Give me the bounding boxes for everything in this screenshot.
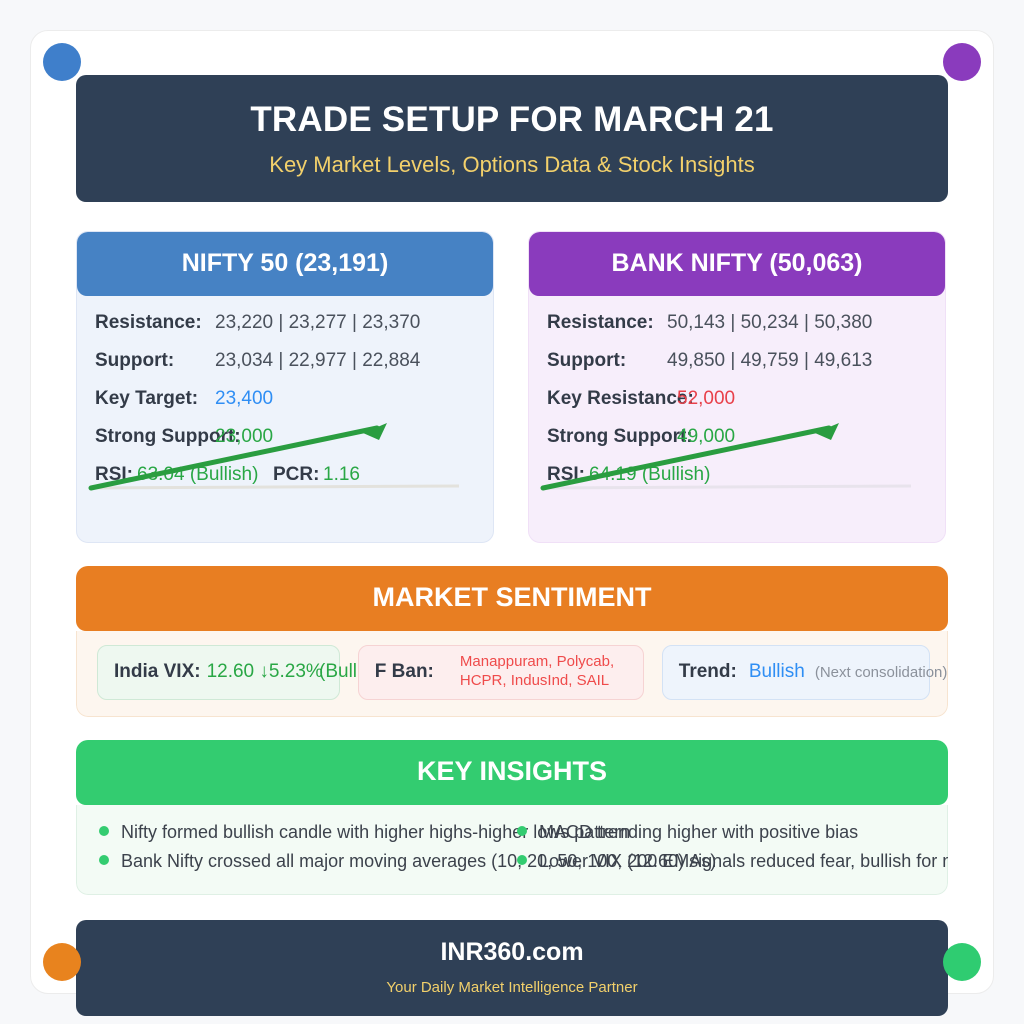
nifty-card-body: Resistance: 23,220 | 23,277 | 23,370 Sup…: [77, 296, 493, 542]
key-insights-heading: KEY INSIGHTS: [76, 740, 948, 805]
key-insights-section: KEY INSIGHTS Nifty formed bullish candle…: [76, 740, 948, 895]
poster-header: TRADE SETUP FOR MARCH 21 Key Market Leve…: [76, 75, 948, 202]
bullet-icon: [517, 855, 527, 865]
decor-dot-bottom-left: [43, 943, 81, 981]
f-ban-label: F Ban:: [375, 661, 434, 683]
page-subtitle: Key Market Levels, Options Data & Stock …: [96, 152, 928, 178]
insight-row: Nifty formed bullish candle with higher …: [99, 819, 925, 848]
bullet-icon: [99, 855, 109, 865]
market-sentiment-section: MARKET SENTIMENT India VIX: 12.60 ↓5.23%…: [76, 566, 948, 717]
nifty-support-row: Support: 23,034 | 22,977 | 22,884: [95, 350, 475, 388]
key-insights-body: Nifty formed bullish candle with higher …: [76, 805, 948, 895]
insight-overlay-label-2: Lower VIX (12.60) signals reduced fear, …: [539, 851, 948, 871]
brand-tagline: Your Daily Market Intelligence Partner: [86, 979, 938, 996]
decor-dot-top-right: [943, 43, 981, 81]
banknifty-support-row: Support: 49,850 | 49,759 | 49,613: [547, 350, 927, 388]
nifty-resistance-value: 23,220 | 23,277 | 23,370: [215, 312, 420, 334]
nifty-trend-sparkline: [87, 420, 465, 500]
banknifty-trend-sparkline: [539, 420, 917, 500]
banknifty-card-body: Resistance: 50,143 | 50,234 | 50,380 Sup…: [529, 296, 945, 542]
banknifty-key-resistance-label: Key Resistance:: [547, 388, 694, 410]
india-vix-label: India VIX:: [114, 661, 201, 683]
nifty-card-title: NIFTY 50 (23,191): [77, 232, 493, 296]
f-ban-value: Manappuram, Polycab, HCPR, IndusInd, SAI…: [460, 653, 627, 691]
nifty-support-value: 23,034 | 22,977 | 22,884: [215, 350, 420, 372]
nifty-resistance-label: Resistance:: [95, 312, 202, 334]
india-vix-chip: India VIX: 12.60 ↓5.23% (Bullish): [97, 645, 340, 700]
banknifty-key-resistance-value: 52,000: [677, 388, 735, 410]
trend-label: Trend:: [679, 661, 737, 683]
insight-overlay-label-1: MACD trending higher with positive bias: [539, 822, 858, 842]
index-cards-row: NIFTY 50 (23,191) Resistance: 23,220 | 2…: [76, 231, 948, 543]
insight-overlay-text-1: MACD trending higher with positive bias: [517, 822, 858, 843]
nifty-support-label: Support:: [95, 350, 174, 372]
brand-name: INR360.com: [86, 938, 938, 967]
trend-chip: Trend: Bullish (Next consolidation): [662, 645, 930, 700]
trend-note: (Next consolidation): [815, 664, 948, 681]
page-title: TRADE SETUP FOR MARCH 21: [96, 101, 928, 140]
india-vix-value: 12.60 ↓5.23%: [207, 661, 323, 683]
banknifty-resistance-value: 50,143 | 50,234 | 50,380: [667, 312, 872, 334]
poster-footer: INR360.com Your Daily Market Intelligenc…: [76, 920, 948, 1016]
decor-dot-bottom-right: [943, 943, 981, 981]
banknifty-resistance-row: Resistance: 50,143 | 50,234 | 50,380: [547, 312, 927, 350]
nifty-target-label: Key Target:: [95, 388, 198, 410]
bullet-icon: [517, 826, 527, 836]
nifty-card: NIFTY 50 (23,191) Resistance: 23,220 | 2…: [76, 231, 494, 543]
banknifty-support-label: Support:: [547, 350, 626, 372]
trend-value: Bullish: [749, 661, 805, 683]
insight-overlay-text-2: Lower VIX (12.60) signals reduced fear, …: [517, 851, 948, 872]
page-root: TRADE SETUP FOR MARCH 21 Key Market Leve…: [0, 0, 1024, 1024]
banknifty-card: BANK NIFTY (50,063) Resistance: 50,143 |…: [528, 231, 946, 543]
poster-card: TRADE SETUP FOR MARCH 21 Key Market Leve…: [30, 30, 994, 994]
banknifty-resistance-label: Resistance:: [547, 312, 654, 334]
banknifty-card-title: BANK NIFTY (50,063): [529, 232, 945, 296]
bullet-icon: [99, 826, 109, 836]
nifty-resistance-row: Resistance: 23,220 | 23,277 | 23,370: [95, 312, 475, 350]
decor-dot-top-left: [43, 43, 81, 81]
banknifty-support-value: 49,850 | 49,759 | 49,613: [667, 350, 872, 372]
market-sentiment-heading: MARKET SENTIMENT: [76, 566, 948, 631]
insight-row: Bank Nifty crossed all major moving aver…: [99, 848, 925, 877]
f-ban-chip: F Ban: Manappuram, Polycab, HCPR, IndusI…: [358, 645, 644, 700]
nifty-target-value: 23,400: [215, 388, 273, 410]
market-sentiment-body: India VIX: 12.60 ↓5.23% (Bullish) F Ban:…: [76, 631, 948, 717]
